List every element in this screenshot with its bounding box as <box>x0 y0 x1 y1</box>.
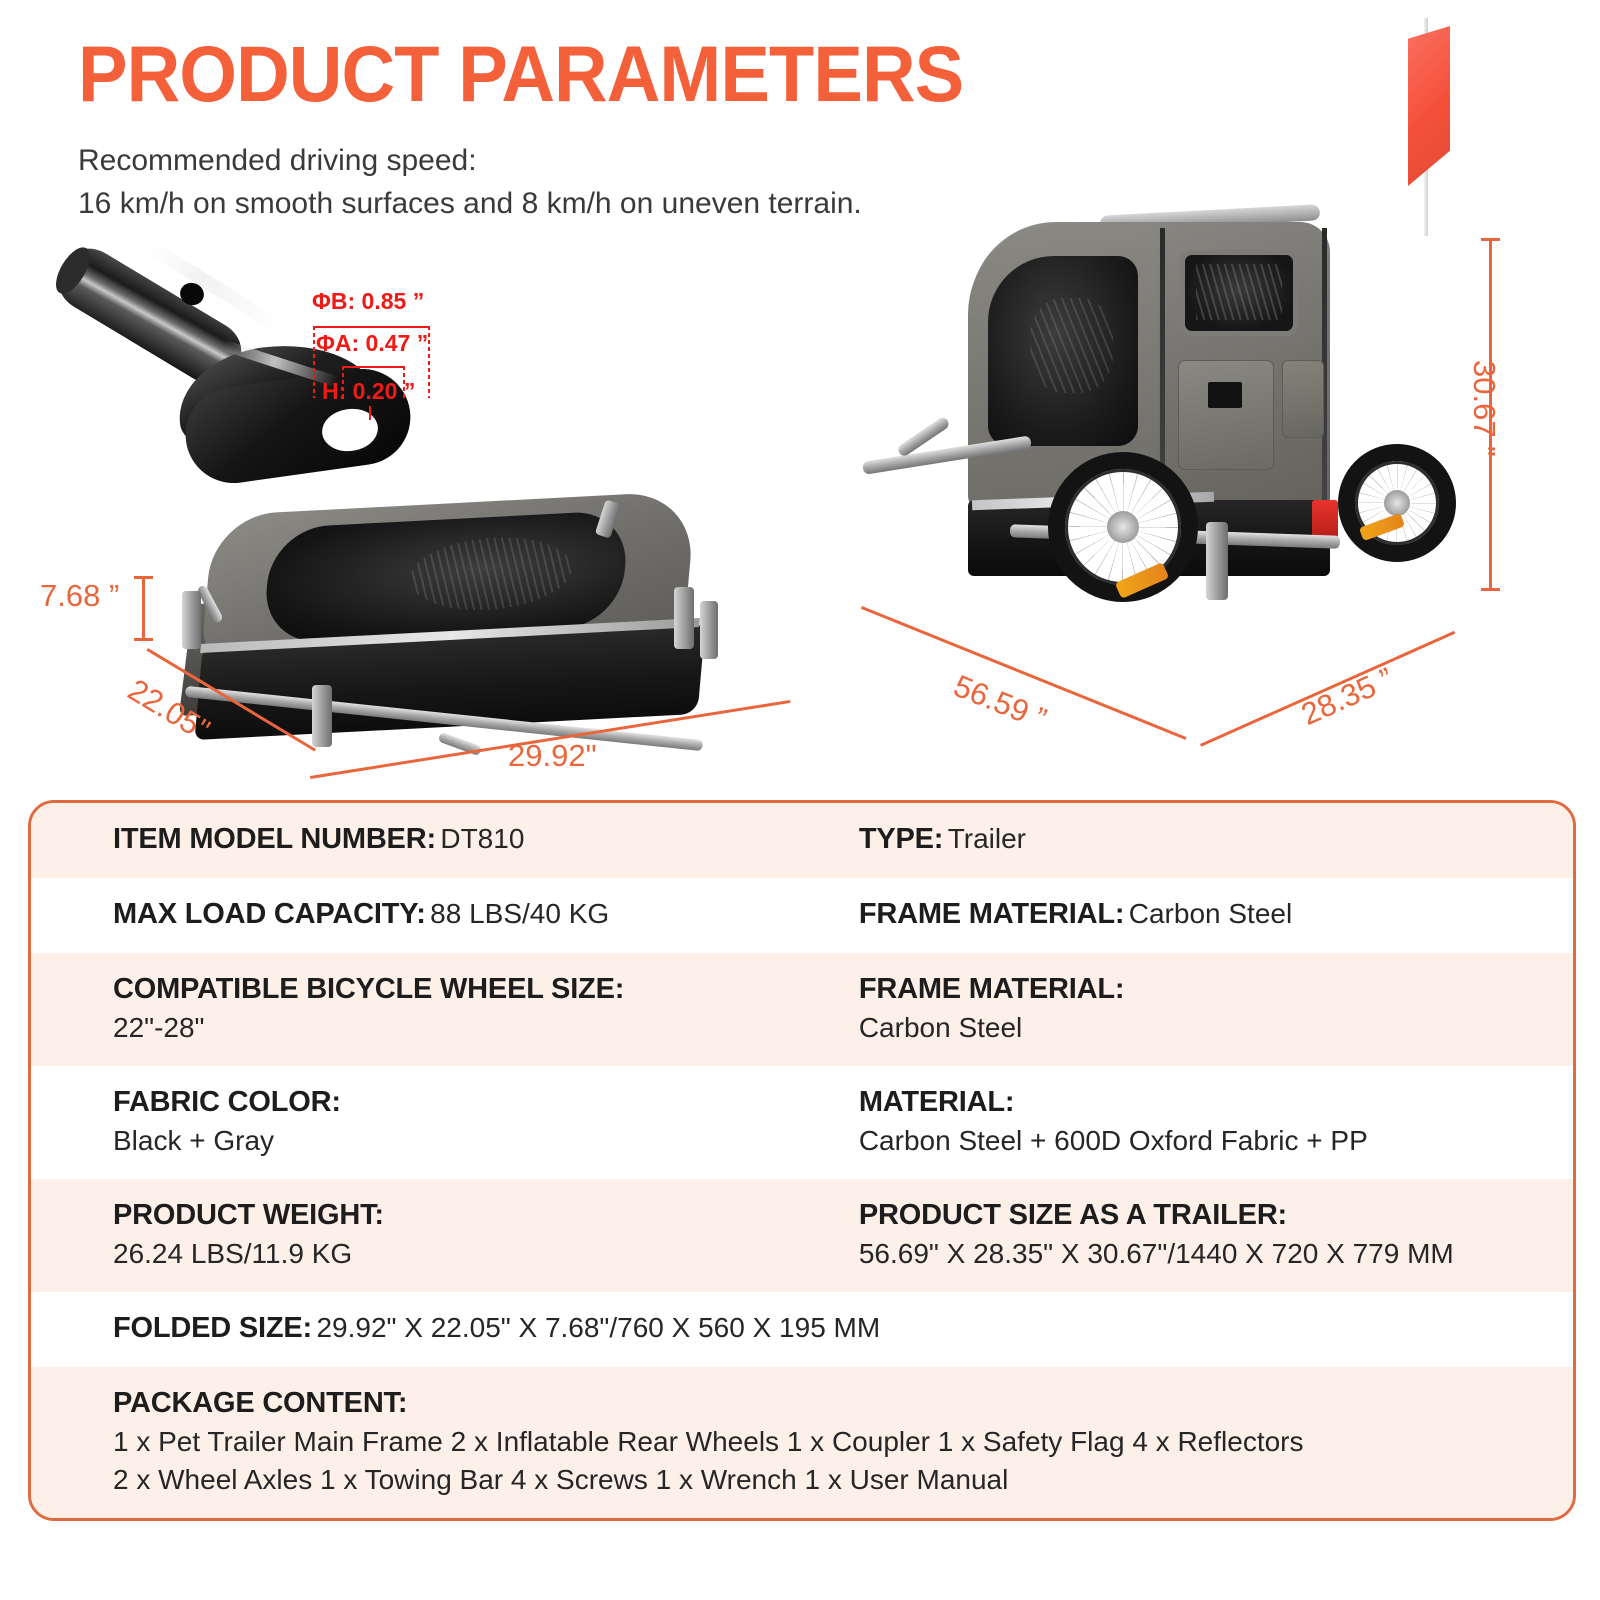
table-row: FABRIC COLOR: Black + Gray MATERIAL: Car… <box>31 1066 1573 1179</box>
spec-key: PACKAGE CONTENT: <box>113 1387 1573 1420</box>
trailer-wheel-right-hub <box>1384 490 1410 516</box>
speed-note-line-2: 16 km/h on smooth surfaces and 8 km/h on… <box>78 183 862 226</box>
spec-cell-item-model-number: ITEM MODEL NUMBER: DT810 <box>31 823 833 856</box>
trailer-rear-post <box>1206 522 1228 600</box>
spec-key: FOLDED SIZE: <box>113 1312 312 1344</box>
table-row: PRODUCT WEIGHT: 26.24 LBS/11.9 KG PRODUC… <box>31 1179 1573 1292</box>
spec-cell-product-size-as-trailer: PRODUCT SIZE AS A TRAILER: 56.69" X 28.3… <box>833 1199 1573 1270</box>
assembled-trailer-illustration <box>860 200 1500 700</box>
spec-value: Carbon Steel + 600D Oxford Fabric + PP <box>859 1125 1573 1157</box>
spec-value-line-2: 2 x Wheel Axles 1 x Towing Bar 4 x Screw… <box>113 1464 1573 1496</box>
folded-height-label: 7.68 ” <box>40 578 119 614</box>
spec-value: 29.92" X 22.05" X 7.68"/760 X 560 X 195 … <box>316 1312 880 1343</box>
table-row: FOLDED SIZE: 29.92" X 22.05" X 7.68"/760… <box>31 1292 1573 1367</box>
spec-cell-package-content: PACKAGE CONTENT: 1 x Pet Trailer Main Fr… <box>31 1387 1573 1496</box>
coupler-illustration <box>70 228 440 490</box>
spec-value: Trailer <box>948 823 1026 854</box>
spec-key: FABRIC COLOR: <box>113 1086 833 1119</box>
spec-cell-frame-material-secondary: FRAME MATERIAL: Carbon Steel <box>833 973 1573 1044</box>
folded-frame-post-d <box>700 601 718 659</box>
spec-key: PRODUCT SIZE AS A TRAILER: <box>859 1199 1573 1232</box>
assembled-height-label: 30.67 ” <box>1466 360 1502 457</box>
folded-frame-post-b <box>312 685 332 747</box>
coupler-diameter-a-line <box>342 366 404 368</box>
folded-height-cap-top <box>134 576 153 579</box>
coupler-diameter-b-tick-right <box>428 326 430 398</box>
coupler-height-tick <box>369 406 371 420</box>
spec-cell-fabric-color: FABRIC COLOR: Black + Gray <box>31 1086 833 1157</box>
spec-key: PRODUCT WEIGHT: <box>113 1199 833 1232</box>
table-row: ITEM MODEL NUMBER: DT810 TYPE: Trailer <box>31 803 1573 878</box>
folded-trailer-illustration <box>160 495 810 775</box>
speed-note-line-1: Recommended driving speed: <box>78 140 862 183</box>
folded-height-arrow <box>142 578 145 640</box>
spec-cell-max-load-capacity: MAX LOAD CAPACITY: 88 LBS/40 KG <box>31 898 833 931</box>
coupler-height-label: H: 0.20 ” <box>322 378 415 405</box>
assembled-height-cap-top <box>1481 238 1500 241</box>
spec-cell-product-weight: PRODUCT WEIGHT: 26.24 LBS/11.9 KG <box>31 1199 833 1270</box>
table-row: COMPATIBLE BICYCLE WHEEL SIZE: 22"-28" F… <box>31 953 1573 1066</box>
spec-key: ITEM MODEL NUMBER: <box>113 823 436 855</box>
spec-value: DT810 <box>440 823 524 854</box>
trailer-storage-pocket-small[interactable] <box>1282 360 1324 438</box>
spec-key: FRAME MATERIAL: <box>859 973 1573 1006</box>
spec-cell-material: MATERIAL: Carbon Steel + 600D Oxford Fab… <box>833 1086 1573 1157</box>
spec-cell-compatible-wheel-size: COMPATIBLE BICYCLE WHEEL SIZE: 22"-28" <box>31 973 833 1044</box>
folded-frame-post-a <box>182 591 201 649</box>
coupler-diameter-b-label: ΦB: 0.85 ” <box>312 288 424 315</box>
spec-key: COMPATIBLE BICYCLE WHEEL SIZE: <box>113 973 833 1006</box>
recommended-speed-note: Recommended driving speed: 16 km/h on sm… <box>78 140 862 225</box>
product-parameters-table: ITEM MODEL NUMBER: DT810 TYPE: Trailer M… <box>28 800 1576 1521</box>
spec-key: MATERIAL: <box>859 1086 1573 1119</box>
folded-frame-post-c <box>674 587 694 649</box>
spec-key: MAX LOAD CAPACITY: <box>113 898 426 930</box>
spec-value: 56.69" X 28.35" X 30.67"/1440 X 720 X 77… <box>859 1238 1573 1270</box>
trailer-side-mesh-window <box>1180 250 1298 336</box>
coupler-diameter-b-line <box>313 326 430 328</box>
spec-key: TYPE: <box>859 823 943 855</box>
spec-cell-frame-material: FRAME MATERIAL: Carbon Steel <box>833 898 1573 931</box>
table-row: PACKAGE CONTENT: 1 x Pet Trailer Main Fr… <box>31 1367 1573 1518</box>
spec-cell-type: TYPE: Trailer <box>833 823 1573 856</box>
table-row: MAX LOAD CAPACITY: 88 LBS/40 KG FRAME MA… <box>31 878 1573 953</box>
trailer-storage-pocket-large[interactable] <box>1178 360 1274 470</box>
coupler-diameter-b-tick-left <box>313 326 315 398</box>
spec-value: Black + Gray <box>113 1125 833 1157</box>
spec-value-line-1: 1 x Pet Trailer Main Frame 2 x Inflatabl… <box>113 1426 1573 1458</box>
spec-cell-folded-size: FOLDED SIZE: 29.92" X 22.05" X 7.68"/760… <box>31 1312 1573 1345</box>
trailer-front-mesh-window <box>988 256 1138 446</box>
safety-flag-cloth <box>1408 26 1450 186</box>
page-title: PRODUCT PARAMETERS <box>78 28 963 120</box>
trailer-wheel-left-hub <box>1107 511 1139 543</box>
coupler-diameter-a-label: ΦA: 0.47 ” <box>316 330 428 357</box>
spec-key: FRAME MATERIAL: <box>859 898 1124 930</box>
spec-value: Carbon Steel <box>1129 898 1292 929</box>
trailer-pocket-patch <box>1208 382 1242 408</box>
assembled-height-cap-bottom <box>1481 588 1500 591</box>
folded-height-cap-bottom <box>134 638 153 641</box>
spec-value: 88 LBS/40 KG <box>430 898 609 929</box>
spec-value: 22"-28" <box>113 1012 833 1044</box>
spec-value: 26.24 LBS/11.9 KG <box>113 1238 833 1270</box>
spec-value: Carbon Steel <box>859 1012 1573 1044</box>
